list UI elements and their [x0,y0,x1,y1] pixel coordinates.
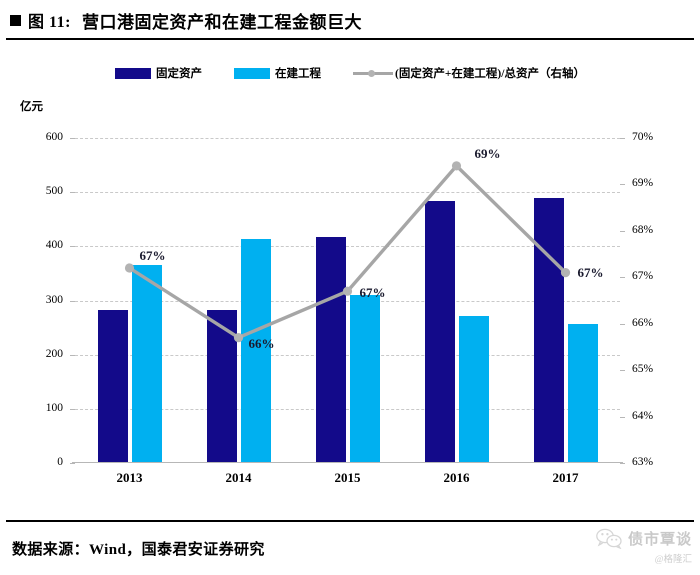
ratio-marker-2013[interactable] [125,263,134,272]
y-axis-left-label: 300 [20,295,63,307]
x-axis-line [72,462,623,463]
y-axis-left-tick [70,463,75,464]
y-axis-right-tick [620,277,625,278]
x-axis-label-2017: 2017 [553,470,579,486]
data-label-2016: 69% [475,146,501,162]
y-axis-right-tick [620,138,625,139]
y-axis-right-label: 63% [632,457,653,469]
y-axis-right-tick [620,184,625,185]
x-axis-label-2016: 2016 [444,470,470,486]
y-axis-left-label: 100 [20,403,63,415]
y-axis-right-label: 70% [632,132,653,144]
wechat-icon [596,528,622,549]
source-note: 数据来源：Wind，国泰君安证券研究 [12,538,265,559]
legend-item-construction-in-progress[interactable]: 在建工程 [234,65,321,81]
ratio-marker-2014[interactable] [234,333,243,342]
ratio-marker-2016[interactable] [452,161,461,170]
x-axis-label-2015: 2015 [335,470,361,486]
ratio-line [130,166,566,338]
ratio-line-layer [75,138,620,463]
figure-header: 图 11: 营口港固定资产和在建工程金额巨大 [0,0,700,40]
y-axis-right-label: 65% [632,364,653,376]
figure-number: 图 11: [28,8,71,32]
y-axis-right-label: 69% [632,178,653,190]
watermark-name: 债市覃谈 [628,528,692,549]
y-axis-right-tick [620,463,625,464]
chart-legend: 固定资产 在建工程 (固定资产+在建工程)/总资产（右轴） [0,60,700,86]
legend-label-construction-in-progress: 在建工程 [275,65,321,81]
legend-item-fixed-assets[interactable]: 固定资产 [115,65,202,81]
y-axis-right-tick [620,324,625,325]
watermark-handle: @格隆汇 [564,551,692,565]
y-axis-right-label: 67% [632,271,653,283]
y-axis-right-tick [620,370,625,371]
y-axis-right-label: 64% [632,411,653,423]
y-axis-right-label: 66% [632,318,653,330]
x-axis-labels: 20132014201520162017 [75,470,620,490]
footer-divider [6,520,694,522]
x-axis-label-2014: 2014 [226,470,252,486]
data-label-2014: 66% [249,336,275,352]
x-axis-label-2013: 2013 [117,470,143,486]
y-axis-left-label: 200 [20,349,63,361]
legend-label-ratio-line: (固定资产+在建工程)/总资产（右轴） [395,65,585,81]
y-axis-right-tick [620,417,625,418]
legend-swatch-construction-in-progress [234,68,270,79]
ratio-marker-2017[interactable] [561,268,570,277]
data-label-2013: 67% [140,248,166,264]
y-axis-left-label: 400 [20,240,63,252]
data-label-2015: 67% [360,285,386,301]
legend-item-ratio-line[interactable]: (固定资产+在建工程)/总资产（右轴） [353,65,585,81]
y-axis-right-label: 68% [632,225,653,237]
header-divider [6,38,694,40]
data-label-2017: 67% [578,265,604,281]
figure-bullet-marker [10,15,21,26]
y-axis-left-label: 0 [20,457,63,469]
legend-label-fixed-assets: 固定资产 [156,65,202,81]
y-axis-left-label: 500 [20,186,63,198]
y-axis-right-tick [620,231,625,232]
page-title: 营口港固定资产和在建工程金额巨大 [82,8,362,33]
y-axis-left-label: 600 [20,132,63,144]
watermark: 债市覃谈 @格隆汇 [564,528,692,572]
legend-swatch-fixed-assets [115,68,151,79]
legend-line-marker-icon [353,68,393,79]
chart-plot-area: 67%66%67%69%67% [75,138,620,463]
ratio-marker-2015[interactable] [343,287,352,296]
y-axis-unit-label: 亿元 [20,98,43,114]
